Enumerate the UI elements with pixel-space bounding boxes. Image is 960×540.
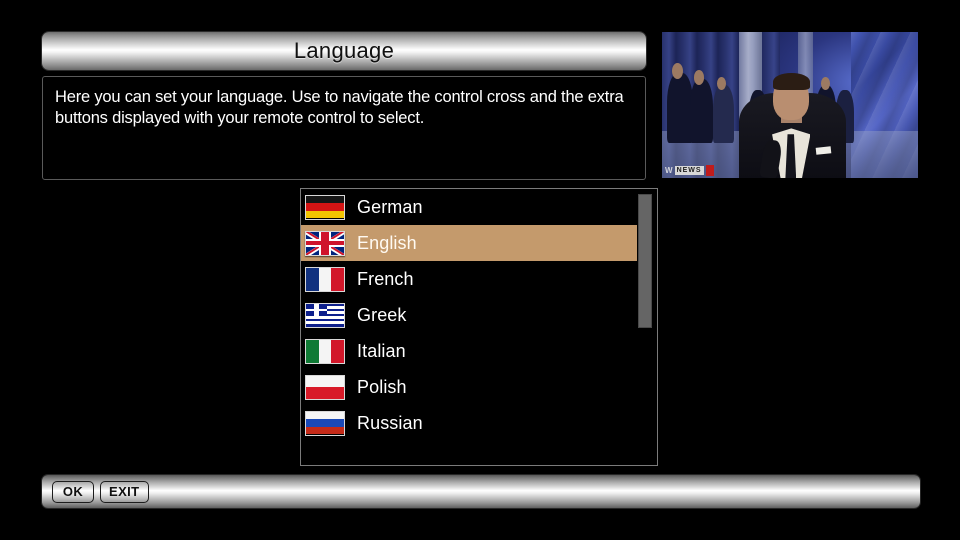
flag-french-icon xyxy=(305,267,345,292)
channel-bug-news: NEWS xyxy=(675,166,704,175)
channel-bug-marker xyxy=(706,165,714,176)
exit-button[interactable]: EXIT xyxy=(100,481,149,503)
list-scrollbar-thumb[interactable] xyxy=(638,194,652,328)
list-item-label: Polish xyxy=(357,377,407,398)
ok-button-label: OK xyxy=(63,484,83,499)
list-item-label: French xyxy=(357,269,414,290)
video-reporter-hair xyxy=(773,73,810,91)
list-item[interactable]: Greek xyxy=(301,297,637,333)
language-list-panel: German English French Greek xyxy=(300,188,658,466)
video-crowd-head xyxy=(694,70,704,85)
flag-russian-icon xyxy=(305,411,345,436)
flag-greek-icon xyxy=(305,303,345,328)
list-item[interactable]: Russian xyxy=(301,405,637,441)
list-item[interactable]: French xyxy=(301,261,637,297)
window-title-bar: Language xyxy=(42,32,646,70)
ok-button[interactable]: OK xyxy=(52,481,94,503)
list-item[interactable]: English xyxy=(301,225,637,261)
channel-bug-initial: W xyxy=(665,166,673,175)
description-panel: Here you can set your language. Use to n… xyxy=(42,76,646,180)
channel-logo-bug: W NEWS xyxy=(665,165,714,176)
video-crowd-head xyxy=(672,63,683,79)
video-preview[interactable]: W NEWS xyxy=(662,32,918,178)
list-item[interactable]: Polish xyxy=(301,369,637,405)
list-scrollbar[interactable] xyxy=(638,192,652,464)
list-item-label: Greek xyxy=(357,305,407,326)
list-item[interactable]: Italian xyxy=(301,333,637,369)
list-item-label: German xyxy=(357,197,423,218)
video-crowd-figure xyxy=(690,79,713,143)
bottom-button-bar: OK EXIT xyxy=(42,475,920,508)
list-item-label: English xyxy=(357,233,417,254)
flag-english-icon xyxy=(305,231,345,256)
list-item[interactable]: German xyxy=(301,189,637,225)
language-list: German English French Greek xyxy=(301,189,637,441)
exit-button-label: EXIT xyxy=(109,484,140,499)
flag-german-icon xyxy=(305,195,345,220)
page-title: Language xyxy=(294,38,394,64)
flag-polish-icon xyxy=(305,375,345,400)
video-crowd-figure xyxy=(667,73,693,143)
flag-italian-icon xyxy=(305,339,345,364)
video-crowd-figure xyxy=(713,85,733,143)
list-item-label: Italian xyxy=(357,341,406,362)
description-text: Here you can set your language. Use to n… xyxy=(55,87,633,129)
list-item-label: Russian xyxy=(357,413,423,434)
